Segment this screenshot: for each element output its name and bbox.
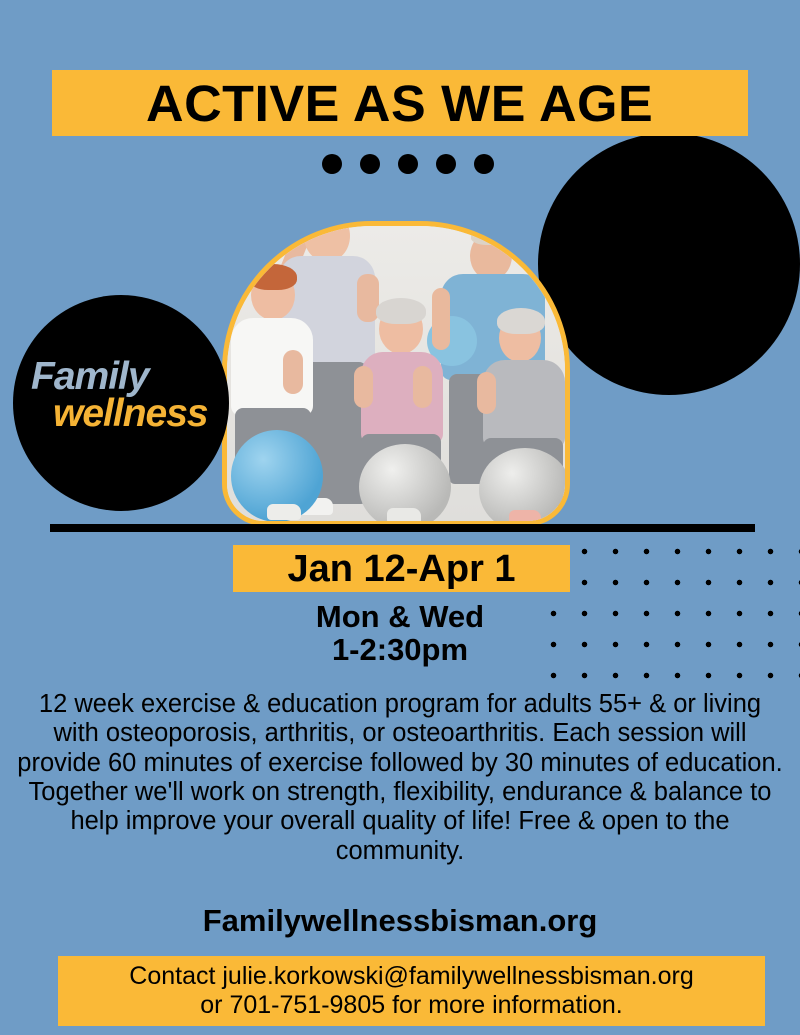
website-link[interactable]: Familywellnessbisman.org <box>0 905 800 936</box>
decor-dot <box>322 154 342 174</box>
contact-banner: Contact julie.korkowski@familywellnessbi… <box>58 956 765 1026</box>
contact-phone-line[interactable]: or 701-751-9805 for more information. <box>200 991 622 1021</box>
program-time: 1-2:30pm <box>200 633 600 666</box>
logo-text-wrap: Family wellness <box>31 359 216 433</box>
decor-dot <box>436 154 456 174</box>
decor-dot <box>398 154 418 174</box>
horizontal-divider <box>50 524 755 532</box>
decor-dot <box>474 154 494 174</box>
hero-photo <box>222 221 570 526</box>
page-title: ACTIVE AS WE AGE <box>146 78 653 129</box>
decor-dot <box>360 154 380 174</box>
logo-family-text: Family <box>31 359 216 395</box>
schedule-block: Mon & Wed 1-2:30pm <box>200 600 600 666</box>
program-days: Mon & Wed <box>200 600 600 633</box>
program-dates: Jan 12-Apr 1 <box>287 550 515 588</box>
dot-row-decoration <box>322 154 502 176</box>
logo-wellness-text: wellness <box>31 395 216 433</box>
poster-canvas: ACTIVE AS WE AGE <box>0 0 800 1035</box>
title-banner: ACTIVE AS WE AGE <box>52 70 748 136</box>
photo-background <box>227 226 565 521</box>
black-circle-decoration-top-right <box>538 133 800 395</box>
dates-banner: Jan 12-Apr 1 <box>233 545 570 592</box>
contact-email-line[interactable]: Contact julie.korkowski@familywellnessbi… <box>129 962 693 992</box>
family-wellness-logo: Family wellness <box>13 295 229 511</box>
program-description: 12 week exercise & education program for… <box>14 690 786 866</box>
